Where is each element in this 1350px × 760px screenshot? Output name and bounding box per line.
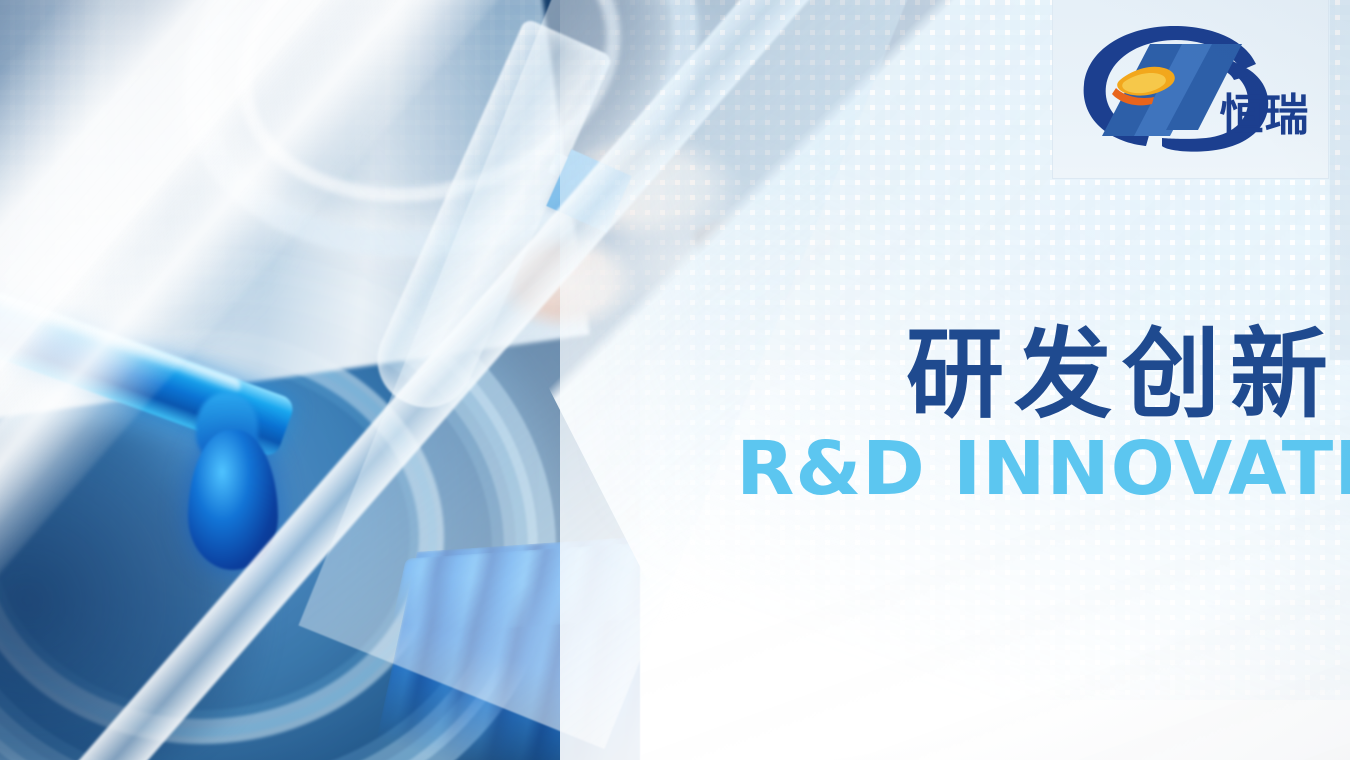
logo-brand-text: 恒瑞 [1220, 94, 1310, 138]
page-title-en: R&D INNOVATION [736, 432, 1338, 506]
logo-inner: 恒瑞 [1066, 14, 1316, 164]
banner-title-block: 研发创新 R&D INNOVATION [748, 326, 1338, 506]
company-logo-box[interactable]: 恒瑞 [1053, 0, 1328, 178]
page-title-cn: 研发创新 [748, 326, 1338, 424]
rd-innovation-banner: 研发创新 R&D INNOVATION 恒瑞 [0, 0, 1350, 760]
